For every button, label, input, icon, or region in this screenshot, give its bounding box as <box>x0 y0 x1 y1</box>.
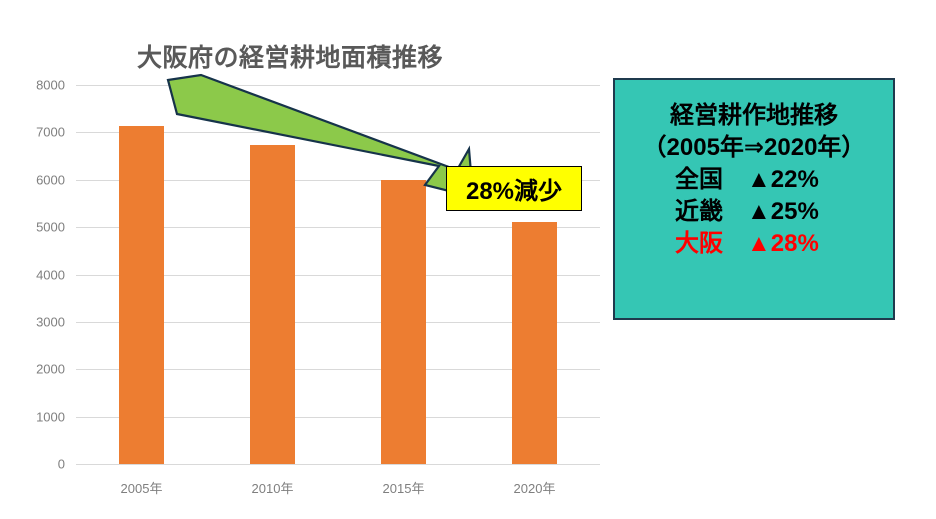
summary-panel: 経営耕作地推移 （2005年⇒2020年） 全国▲22%近畿▲25%大阪▲28% <box>613 78 895 320</box>
summary-heading: 経営耕作地推移 <box>615 100 893 132</box>
chart-bar <box>250 145 295 464</box>
summary-period: （2005年⇒2020年） <box>615 132 893 164</box>
chart-plot-area: 010002000300040005000600070008000 2005年2… <box>76 85 600 464</box>
y-axis-tick-label: 2000 <box>36 362 65 377</box>
summary-row: 全国▲22% <box>615 164 893 196</box>
summary-row: 大阪▲28% <box>615 228 893 260</box>
chart-bar <box>381 180 426 464</box>
axis-baseline: 0 <box>76 464 600 465</box>
chart-bar <box>119 126 164 464</box>
summary-row-region: 全国 <box>651 164 747 196</box>
summary-rows: 全国▲22%近畿▲25%大阪▲28% <box>615 164 893 260</box>
gridline: 8000 <box>76 85 600 86</box>
summary-row-value: ▲25% <box>747 196 857 228</box>
y-axis-tick-label: 4000 <box>36 267 65 282</box>
summary-row: 近畿▲25% <box>615 196 893 228</box>
y-axis-tick-label: 5000 <box>36 220 65 235</box>
y-axis-tick-label: 6000 <box>36 172 65 187</box>
page-title: 大阪府の経営耕地面積推移 <box>120 38 460 74</box>
y-axis-tick-label: 3000 <box>36 314 65 329</box>
y-axis-tick-label: 7000 <box>36 125 65 140</box>
x-axis-tick-label: 2010年 <box>252 478 294 497</box>
summary-row-value: ▲22% <box>747 164 857 196</box>
y-axis-tick-label: 1000 <box>36 409 65 424</box>
slide-canvas: 大阪府の経営耕地面積推移 010002000300040005000600070… <box>0 0 936 519</box>
callout-box: 28%減少 <box>446 166 582 211</box>
x-axis-tick-label: 2020年 <box>514 478 556 497</box>
chart-bar <box>512 222 557 464</box>
y-axis-tick-label: 8000 <box>36 78 65 93</box>
x-axis-tick-label: 2015年 <box>383 478 425 497</box>
summary-row-value: ▲28% <box>747 228 857 260</box>
summary-row-region: 近畿 <box>651 196 747 228</box>
y-axis-tick-label: 0 <box>58 457 65 472</box>
summary-row-region: 大阪 <box>651 228 747 260</box>
x-axis-tick-label: 2005年 <box>121 478 163 497</box>
callout-label: 28%減少 <box>466 171 562 206</box>
